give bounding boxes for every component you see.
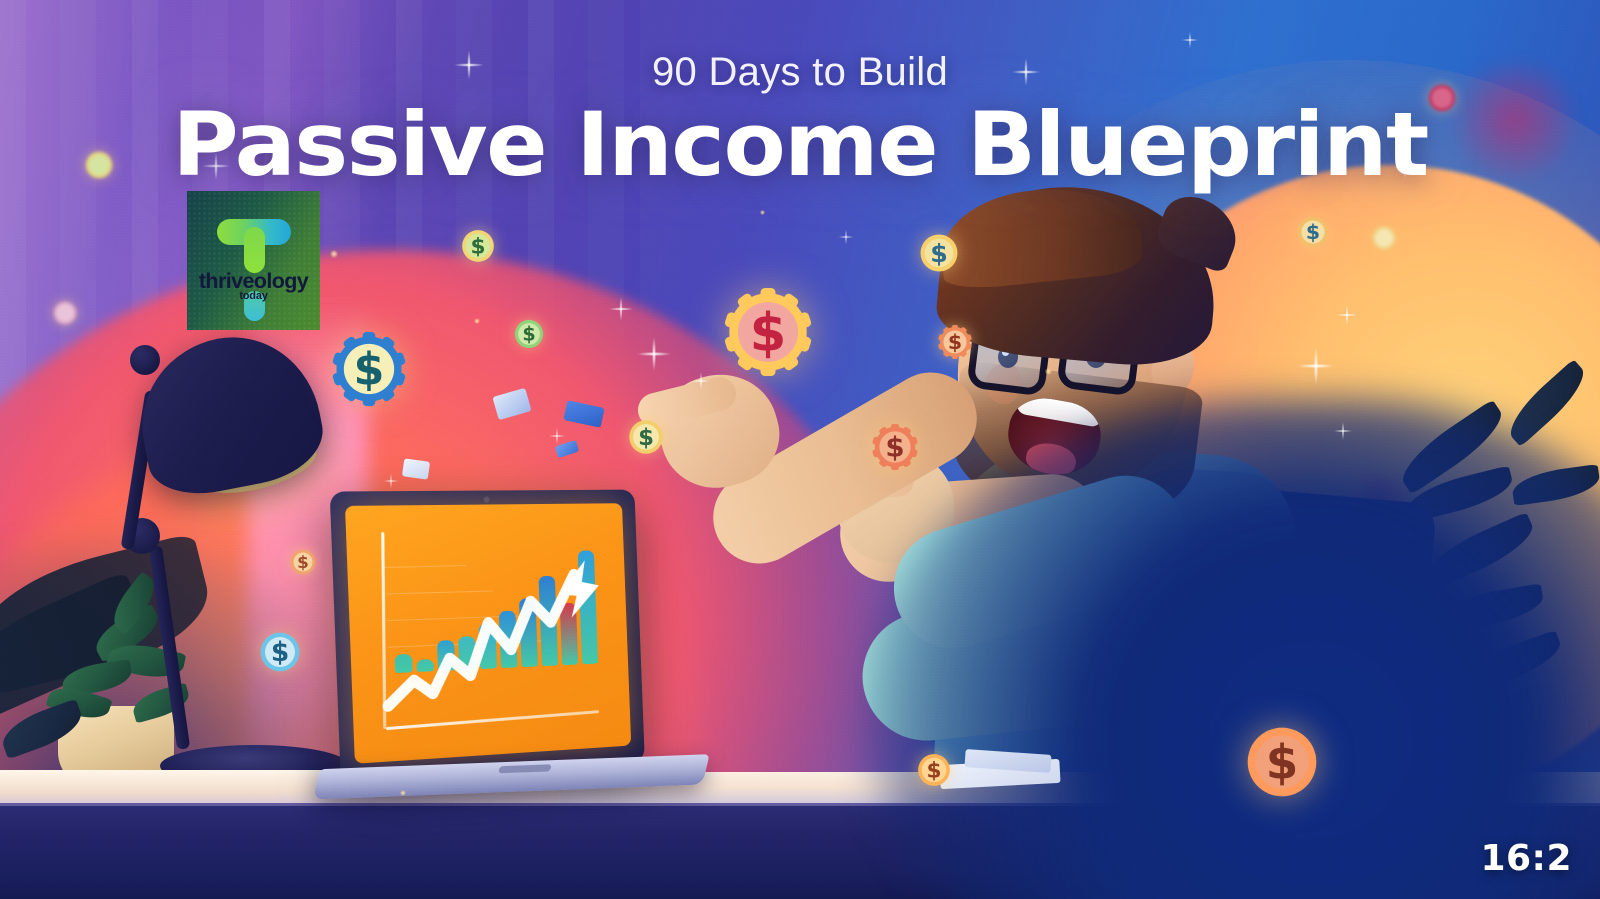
timecode-overlay: 16:2 (1480, 838, 1572, 879)
t-mark-stem-icon (244, 227, 265, 273)
svg-text:$: $ (354, 345, 385, 396)
dollar-gear-coin-icon: $ (724, 288, 812, 376)
thriveology-logo[interactable]: thriveology today (187, 191, 320, 330)
coin-blur-icon (1371, 225, 1397, 251)
gear-coin-icon: $ (872, 424, 918, 470)
dollar-coin-icon: $ (1243, 723, 1321, 801)
dollar-coin-icon: $ (627, 418, 665, 456)
chart-trend-arrow-icon (345, 503, 631, 764)
bokeh-dot (474, 318, 480, 324)
subtitle: 90 Days to Build (0, 50, 1600, 95)
webcam-icon (484, 497, 490, 503)
svg-text:$: $ (1306, 220, 1320, 244)
svg-text:$: $ (1266, 736, 1299, 790)
svg-text:$: $ (885, 431, 904, 464)
laptop[interactable] (333, 484, 674, 796)
svg-text:$: $ (297, 552, 309, 572)
svg-text:$: $ (271, 637, 289, 668)
svg-text:$: $ (948, 330, 962, 354)
bokeh-dot (330, 250, 338, 258)
svg-text:$: $ (470, 235, 485, 260)
dollar-coin-icon: $ (1296, 215, 1330, 249)
dollar-coin-icon: $ (918, 232, 960, 274)
svg-text:$: $ (522, 323, 535, 346)
dollar-gear-coin-icon: $ (332, 332, 406, 406)
growth-bar-chart (345, 503, 631, 764)
dollar-coin-icon: $ (460, 228, 496, 264)
bokeh-dot (1045, 368, 1052, 375)
bokeh-dot (760, 210, 765, 215)
svg-text:$: $ (926, 759, 941, 784)
logo-tagline: today (187, 290, 320, 302)
bokeh-dot (400, 790, 406, 796)
dollar-coin-icon: $ (916, 752, 952, 788)
svg-text:$: $ (930, 239, 948, 268)
gear-coin-icon: $ (938, 325, 972, 359)
svg-text:$: $ (638, 425, 654, 451)
poster-canvas: $$$$$$$$$$$$$ 90 Days to Build Passive I… (0, 0, 1600, 899)
laptop-screen (345, 503, 631, 764)
dollar-coin-icon: $ (513, 318, 545, 350)
envelope-icon-2 (402, 458, 430, 479)
dollar-coin-icon: $ (289, 548, 317, 576)
page-title: Passive Income Blueprint (0, 100, 1600, 190)
lamp-joint (130, 345, 160, 375)
laptop-lid (330, 490, 645, 784)
svg-text:$: $ (750, 302, 787, 363)
coin-blur-icon (52, 300, 78, 326)
dollar-coin-icon: $ (258, 630, 302, 674)
